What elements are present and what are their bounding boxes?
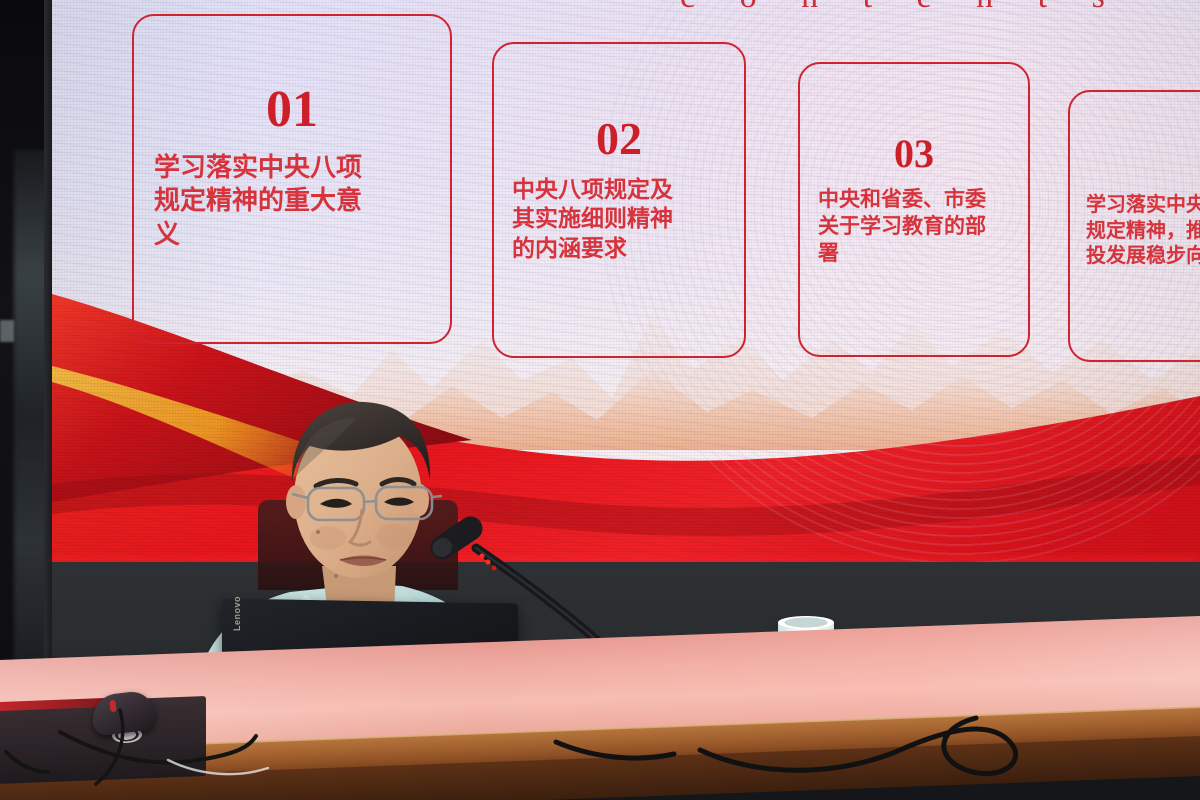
- card-text: 学习落实中央八项 规定精神的重大意 义: [148, 152, 436, 252]
- card-text: 中央和省委、市委 关于学习教育的部 署: [814, 186, 1014, 267]
- slide-card-04: 04 学习落实中央八项 规定精神，推动 投发展稳步向前: [1068, 90, 1200, 362]
- card-text: 学习落实中央八项 规定精神，推动 投发展稳步向前: [1084, 192, 1200, 269]
- card-text-line: 学习落实中央八项: [1086, 192, 1200, 218]
- card-text-line: 学习落实中央八项: [154, 152, 430, 185]
- card-text-line: 的内涵要求: [512, 235, 726, 264]
- desk-cables: [0, 600, 1200, 800]
- card-text-line: 中央和省委、市委: [818, 186, 1010, 213]
- card-number: 04: [1084, 144, 1200, 182]
- card-text-line: 署: [818, 240, 1010, 267]
- card-text-line: 义: [154, 219, 430, 252]
- card-text-line: 关于学习教育的部: [818, 213, 1010, 240]
- card-text-line: 规定精神，推动: [1086, 218, 1200, 244]
- card-number: 02: [508, 116, 730, 162]
- card-text-line: 其实施细则精神: [512, 205, 726, 234]
- wall-fixture: [0, 320, 14, 342]
- card-number: 03: [814, 134, 1014, 174]
- slide-card-01: 01 学习落实中央八项 规定精神的重大意 义: [132, 14, 452, 344]
- slide-card-02: 02 中央八项规定及 其实施细则精神 的内涵要求: [492, 42, 746, 358]
- slide-card-03: 03 中央和省委、市委 关于学习教育的部 署: [798, 62, 1030, 357]
- slide-header-contents: c o n t e n t s: [680, 0, 1123, 16]
- card-text-line: 中央八项规定及: [512, 176, 726, 205]
- card-number: 01: [148, 84, 436, 136]
- card-text: 中央八项规定及 其实施细则精神 的内涵要求: [508, 176, 730, 264]
- photo-scene: c o n t e n t s 01 学习落实中央八项 规定精神的重大意 义 0…: [0, 0, 1200, 800]
- card-text-line: 投发展稳步向前: [1086, 243, 1200, 269]
- card-text-line: 规定精神的重大意: [154, 185, 430, 218]
